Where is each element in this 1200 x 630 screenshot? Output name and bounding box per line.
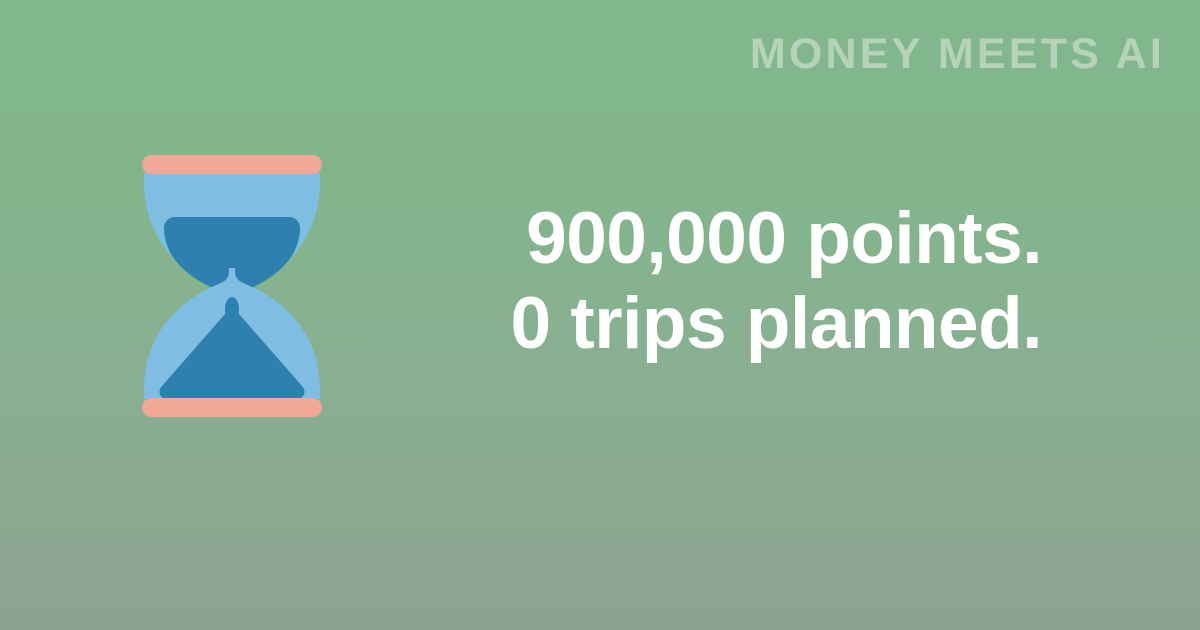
hourglass-top-cap	[142, 155, 322, 174]
hourglass-icon	[130, 148, 334, 424]
headline-line-2: 0 trips planned.	[400, 281, 1042, 366]
hourglass-sand-drop-icon	[225, 297, 239, 321]
headline-line-1: 900,000 points.	[400, 196, 1042, 281]
hourglass-bottom-cap	[142, 398, 322, 417]
headline: 900,000 points. 0 trips planned.	[400, 196, 1042, 367]
social-card: MONEY MEETS AI 900,000 points. 0 trips p…	[0, 0, 1200, 630]
brand-wordmark: MONEY MEETS AI	[750, 33, 1165, 76]
